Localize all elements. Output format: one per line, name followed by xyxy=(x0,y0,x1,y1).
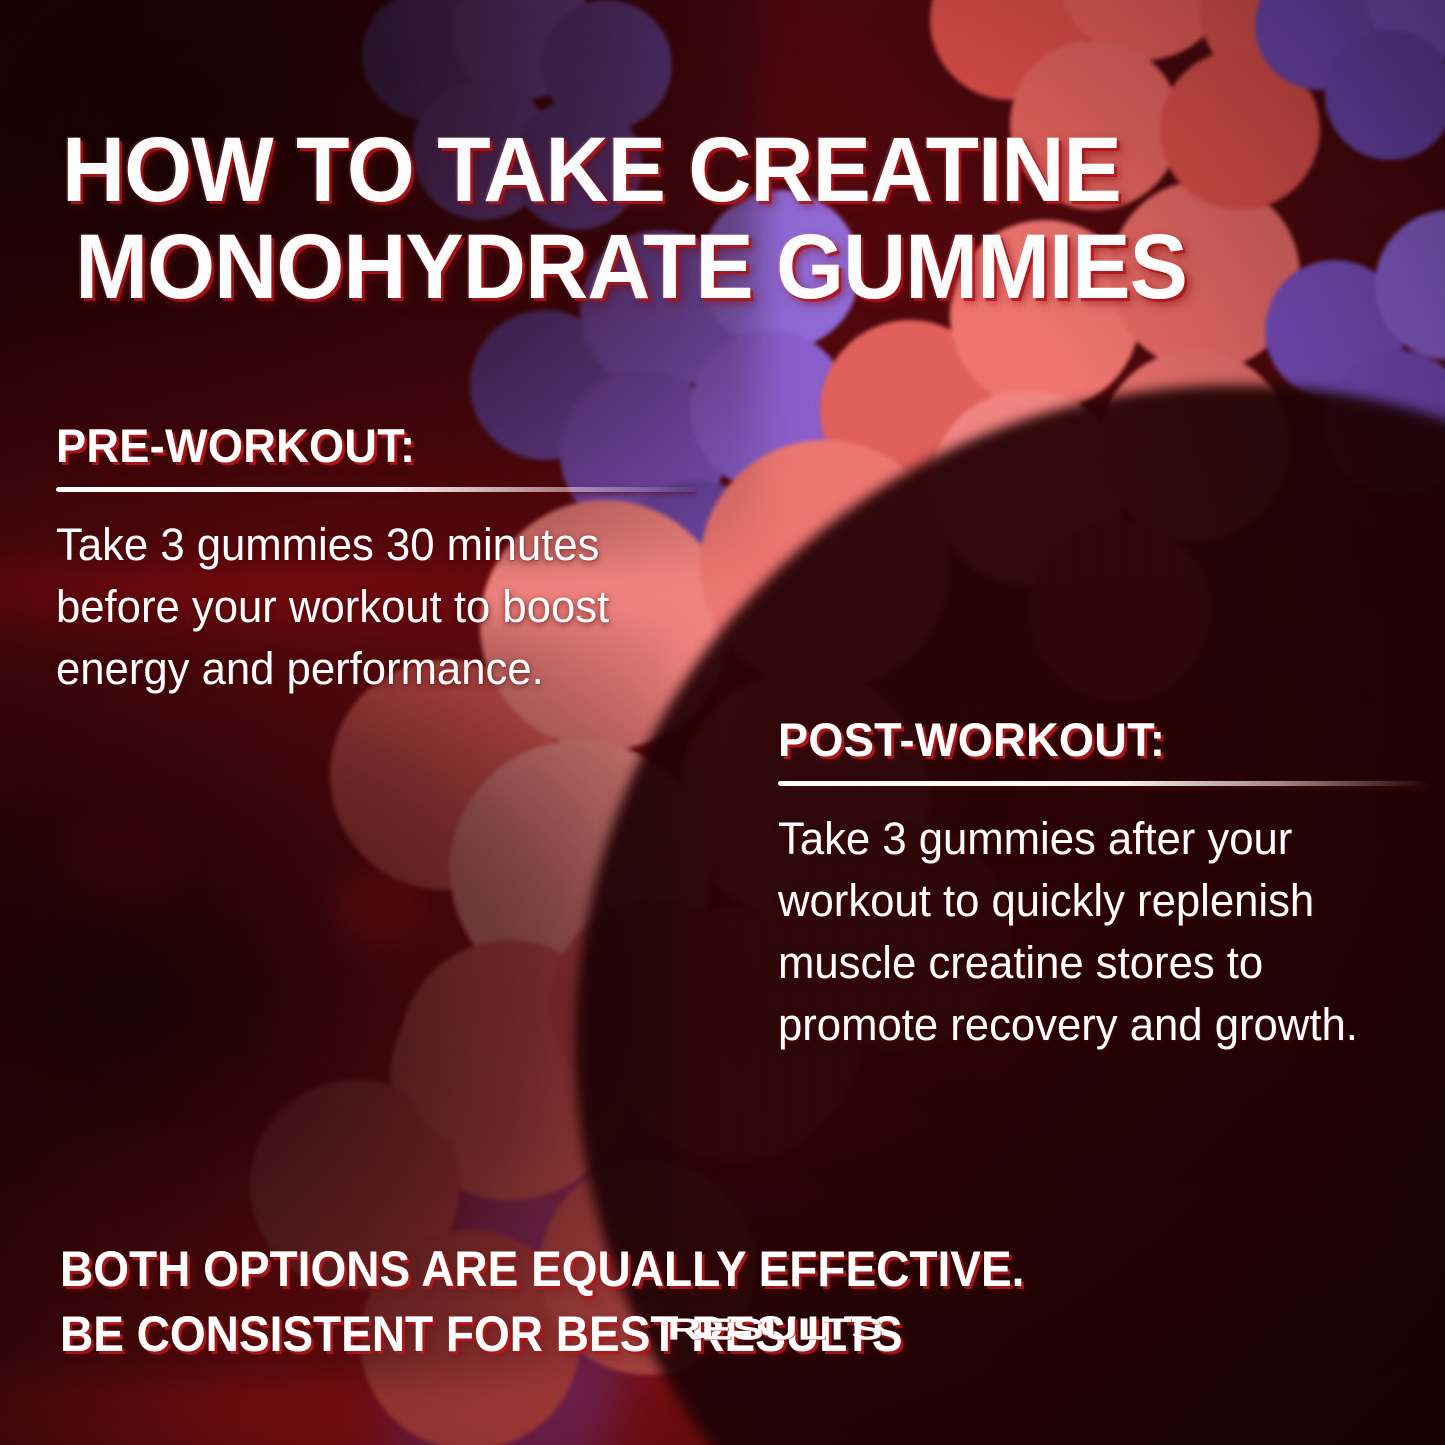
post-workout-body: Take 3 gummies after your workout to qui… xyxy=(778,808,1409,1056)
footer-glitch-word: RESULTSRESULTS xyxy=(691,1302,902,1367)
footer-line-2-prefix: BE CONSISTENT FOR BEST xyxy=(60,1306,691,1362)
page-title-line-1: HOW TO TAKE CREATINE xyxy=(62,119,1121,221)
pre-workout-heading: PRE-WORKOUT: xyxy=(56,418,670,473)
footer-tagline: BOTH OPTIONS ARE EQUALLY EFFECTIVE. BE C… xyxy=(60,1237,1284,1367)
footer-glitch-word-overlay: RESULTS xyxy=(667,1309,882,1349)
poster-content: HOW TO TAKE CREATINE MONOHYDRATE GUMMIES… xyxy=(0,0,1445,1445)
pre-workout-divider xyxy=(56,487,696,492)
post-workout-divider xyxy=(778,781,1428,786)
pre-workout-section: PRE-WORKOUT: Take 3 gummies 30 minutes b… xyxy=(56,418,696,700)
footer-line-2: BE CONSISTENT FOR BEST RESULTSRESULTS xyxy=(60,1302,1284,1367)
post-workout-heading: POST-WORKOUT: xyxy=(778,712,1402,767)
post-workout-section: POST-WORKOUT: Take 3 gummies after your … xyxy=(778,712,1428,1056)
footer-line-1: BOTH OPTIONS ARE EQUALLY EFFECTIVE. xyxy=(60,1237,1284,1302)
page-title-line-2: MONOHYDRATE GUMMIES xyxy=(62,219,1316,317)
promo-poster: HOW TO TAKE CREATINE MONOHYDRATE GUMMIES… xyxy=(0,0,1445,1445)
pre-workout-body: Take 3 gummies 30 minutes before your wo… xyxy=(56,514,677,700)
page-title: HOW TO TAKE CREATINE MONOHYDRATE GUMMIES xyxy=(62,122,1316,317)
